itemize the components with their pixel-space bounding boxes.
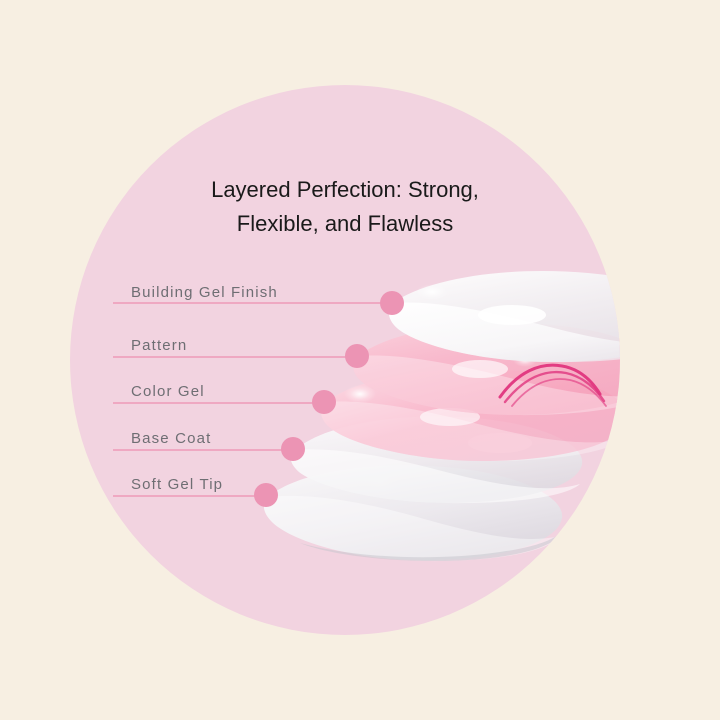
leader-dot-soft-gel-tip[interactable] <box>254 483 278 507</box>
callout-label-pattern: Pattern <box>131 337 187 354</box>
leader-dot-pattern[interactable] <box>345 344 369 368</box>
infographic-svg: Layered Perfection: Strong, Flexible, an… <box>0 0 720 720</box>
leader-dot-base-coat[interactable] <box>281 437 305 461</box>
leader-dot-color-gel[interactable] <box>312 390 336 414</box>
callout-label-base-coat: Base Coat <box>131 430 211 447</box>
title-line-1: Layered Perfection: Strong, <box>211 177 479 202</box>
callout-label-soft-gel-tip: Soft Gel Tip <box>131 476 223 493</box>
callout-label-color-gel: Color Gel <box>131 383 205 400</box>
title-line-2: Flexible, and Flawless <box>237 211 453 236</box>
leader-dot-building-gel-finish[interactable] <box>380 291 404 315</box>
infographic-canvas: Layered Perfection: Strong, Flexible, an… <box>0 0 720 720</box>
callout-label-building-gel-finish: Building Gel Finish <box>131 284 278 301</box>
